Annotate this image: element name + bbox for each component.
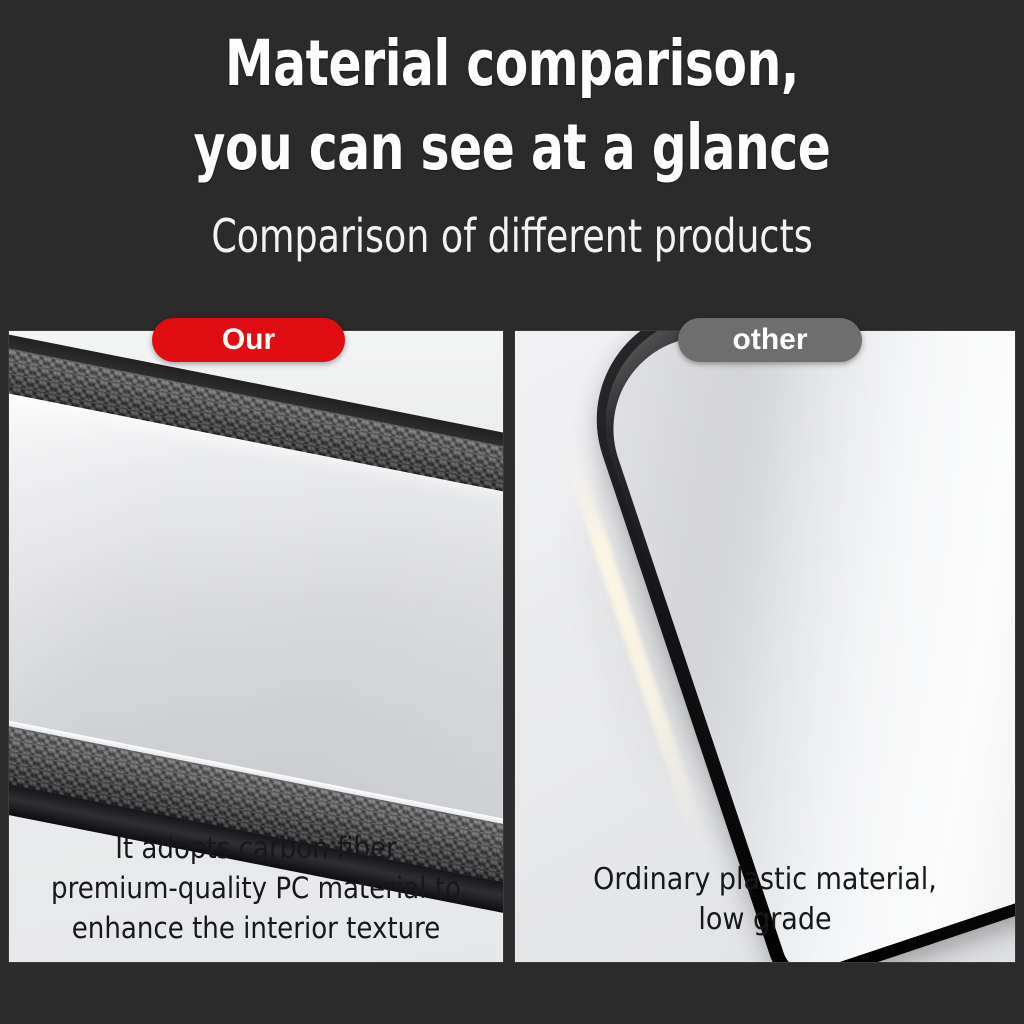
comparison-card-our: It adopts carbon fiber premium-quality P… — [8, 330, 504, 963]
caption-other-line-2: low grade — [515, 900, 1015, 940]
caption-our-line-3: enhance the interior texture — [9, 908, 503, 948]
page-subtitle: Comparison of different products — [61, 207, 962, 265]
title-line-2: you can see at a glance — [72, 106, 953, 190]
comparison-infographic: Material comparison, you can see at a gl… — [0, 0, 1024, 1024]
comparison-card-other: Ordinary plastic material, low grade — [514, 330, 1016, 963]
title-line-1: Material comparison, — [72, 22, 953, 106]
caption-our: It adopts carbon fiber premium-quality P… — [9, 828, 503, 948]
caption-our-line-2: premium-quality PC material to — [9, 868, 503, 908]
badge-other: other — [678, 318, 862, 362]
badge-our: Our — [152, 318, 345, 362]
caption-other: Ordinary plastic material, low grade — [515, 860, 1015, 940]
page-title: Material comparison, you can see at a gl… — [0, 22, 1024, 190]
caption-other-line-1: Ordinary plastic material, — [515, 860, 1015, 900]
caption-our-line-1: It adopts carbon fiber — [9, 828, 503, 868]
